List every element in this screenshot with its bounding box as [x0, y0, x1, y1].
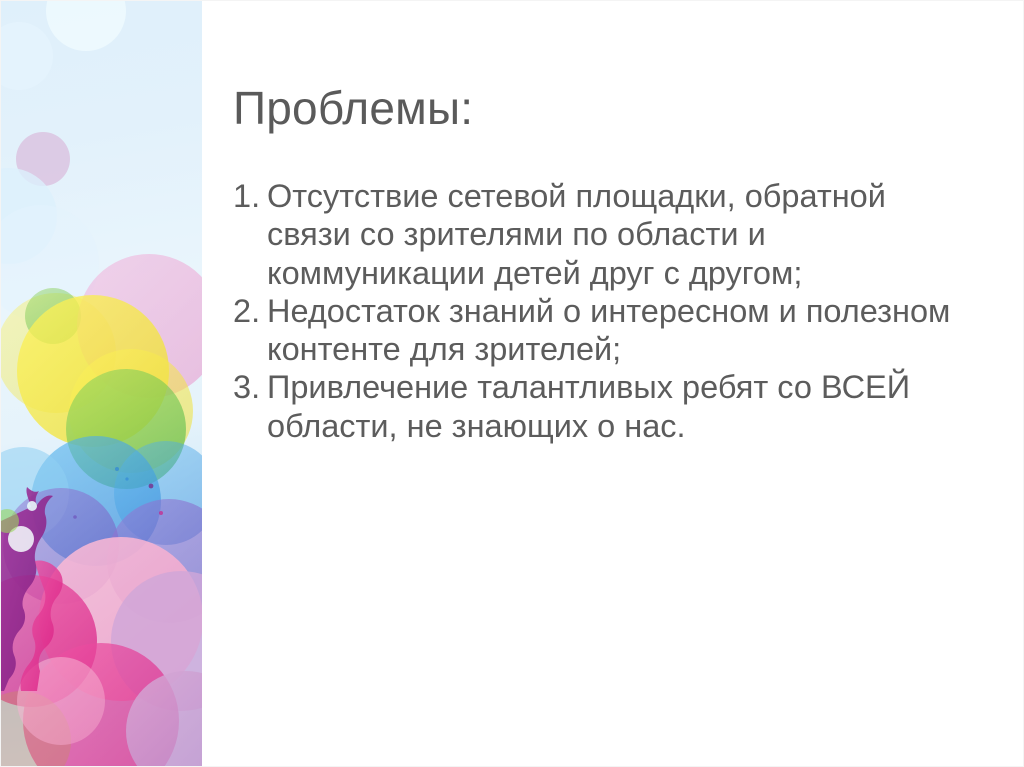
- colored-bubbles-graphic: [1, 1, 202, 767]
- speck-2: [125, 477, 128, 480]
- silhouette-highlight: [27, 501, 37, 511]
- decorative-side-panel: [1, 1, 202, 767]
- bubble-pale-topleft: [1, 22, 53, 90]
- speck-3: [149, 484, 154, 489]
- list-item-text: Отсутствие сетевой площадки, обратной св…: [267, 177, 963, 292]
- list-item: 3. Привлечение талантливых ребят со ВСЕЙ…: [233, 368, 963, 445]
- speck-4: [73, 515, 77, 519]
- list-item-number: 1.: [233, 177, 263, 215]
- slide-content: Проблемы: 1. Отсутствие сетевой площадки…: [233, 1, 993, 767]
- problems-list: 1. Отсутствие сетевой площадки, обратной…: [233, 177, 963, 445]
- list-item-number: 3.: [233, 368, 263, 406]
- list-item-number: 2.: [233, 292, 263, 330]
- page-title: Проблемы:: [233, 80, 473, 136]
- bubble-pale-top: [46, 1, 126, 51]
- speck-5: [159, 511, 163, 515]
- list-item-text: Привлечение талантливых ребят со ВСЕЙ об…: [267, 368, 963, 445]
- list-item: 1. Отсутствие сетевой площадки, обратной…: [233, 177, 963, 292]
- list-item-text: Недостаток знаний о интересном и полезно…: [267, 292, 963, 369]
- presentation-slide: Проблемы: 1. Отсутствие сетевой площадки…: [0, 0, 1024, 767]
- speck-1: [115, 467, 119, 471]
- list-item: 2. Недостаток знаний о интересном и поле…: [233, 292, 963, 369]
